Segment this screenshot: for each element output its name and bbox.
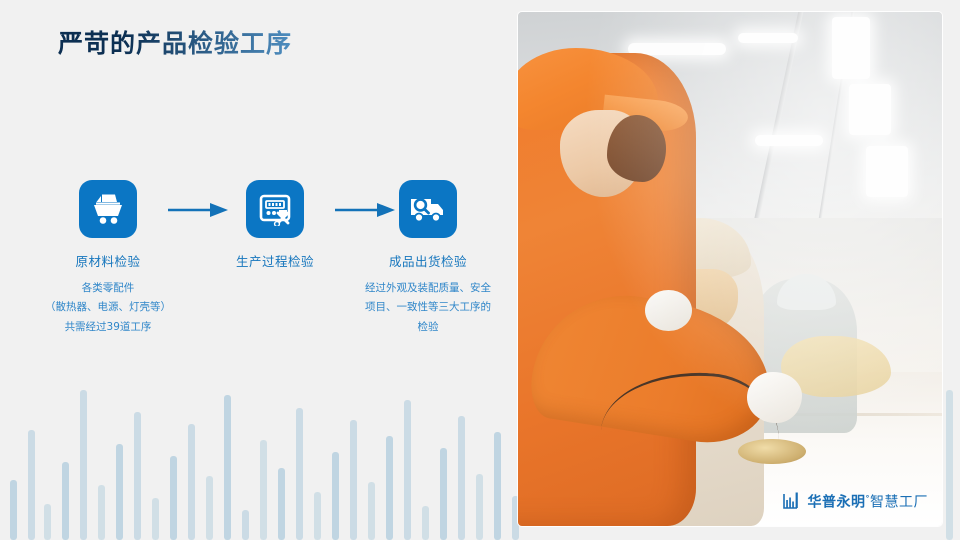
decorative-bar [296, 408, 303, 540]
desc-line: 经过外观及装配质量、安全 [354, 279, 502, 298]
photo-worker-hair [607, 115, 666, 182]
decorative-bar [134, 412, 141, 540]
decorative-bar [494, 432, 501, 540]
machine-inspection-icon [246, 180, 304, 238]
decorative-bar [422, 506, 429, 540]
ceiling-tube-light [738, 33, 797, 43]
flow-step-label: 生产过程检验 [195, 251, 355, 270]
decorative-bar [206, 476, 213, 540]
slide-root: 严苛的产品检验工序 原材料检验 各类零配件 （散热器、电源、灯壳等） 共需经过3… [0, 0, 960, 540]
decorative-bar [98, 485, 105, 540]
decorative-bar [386, 436, 393, 540]
ceiling-tube-light [755, 135, 823, 145]
huapu-building-bars-icon [783, 492, 803, 510]
decorative-bar [260, 440, 267, 540]
flow-step-desc: 经过外观及装配质量、安全 项目、一致性等三大工序的 检验 [348, 279, 508, 337]
mine-cart-icon [79, 180, 137, 238]
ceiling-tube-light [832, 17, 870, 79]
ceiling-tube-light [849, 84, 891, 135]
decorative-bar [242, 510, 249, 540]
desc-line: 项目、一致性等三大工序的 [354, 298, 502, 317]
photo-glove [747, 372, 802, 423]
decorative-bar [28, 430, 35, 540]
decorative-bar [10, 480, 17, 540]
decorative-bar [332, 452, 339, 540]
decorative-bar [476, 474, 483, 540]
brand-suffix: 智慧工厂 [870, 495, 928, 511]
brand-name: 华普永明 [808, 495, 866, 511]
desc-line: 检验 [354, 318, 502, 337]
decorative-bar [368, 482, 375, 540]
decorative-bar [116, 444, 123, 540]
flow-step-production-process[interactable]: 生产过程检验 [195, 180, 355, 270]
decorative-bar [62, 462, 69, 540]
brand-watermark: 华普永明°智慧工厂 [783, 492, 929, 510]
truck-magnifier-icon [399, 180, 457, 238]
flow-step-raw-material[interactable]: 原材料检验 各类零配件 （散热器、电源、灯壳等） 共需经过39道工序 [28, 180, 188, 337]
decorative-bar [188, 424, 195, 540]
decorative-bar [44, 504, 51, 540]
factory-photo: 华普永明°智慧工厂 [518, 12, 942, 526]
brand-watermark-text: 华普永明°智慧工厂 [808, 495, 929, 510]
decorative-bar [152, 498, 159, 540]
desc-line: 共需经过39道工序 [34, 318, 182, 337]
decorative-bar [80, 390, 87, 540]
ceiling-tube-light [866, 146, 908, 197]
flow-step-desc: 各类零配件 （散热器、电源、灯壳等） 共需经过39道工序 [28, 279, 188, 337]
desc-line: （散热器、电源、灯壳等） [34, 298, 182, 317]
page-title: 严苛的产品检验工序 [58, 30, 292, 58]
decorative-bar [278, 468, 285, 540]
photo-glove [645, 290, 692, 331]
flow-step-label: 成品出货检验 [348, 251, 508, 270]
decorative-bar [350, 420, 357, 540]
desc-line: 各类零配件 [34, 279, 182, 298]
flow-step-label: 原材料检验 [28, 251, 188, 270]
photo-illustration [518, 12, 942, 526]
flow-step-finished-goods[interactable]: 成品出货检验 经过外观及装配质量、安全 项目、一致性等三大工序的 检验 [348, 180, 508, 337]
decorative-bar [440, 448, 447, 540]
decorative-bar [170, 456, 177, 540]
decorative-bar [224, 395, 231, 540]
decorative-bar [314, 492, 321, 540]
decorative-bar [404, 400, 411, 540]
inspection-process-flow: 原材料检验 各类零配件 （散热器、电源、灯壳等） 共需经过39道工序 [0, 180, 520, 380]
decorative-bar [946, 390, 953, 540]
decorative-bar [458, 416, 465, 540]
